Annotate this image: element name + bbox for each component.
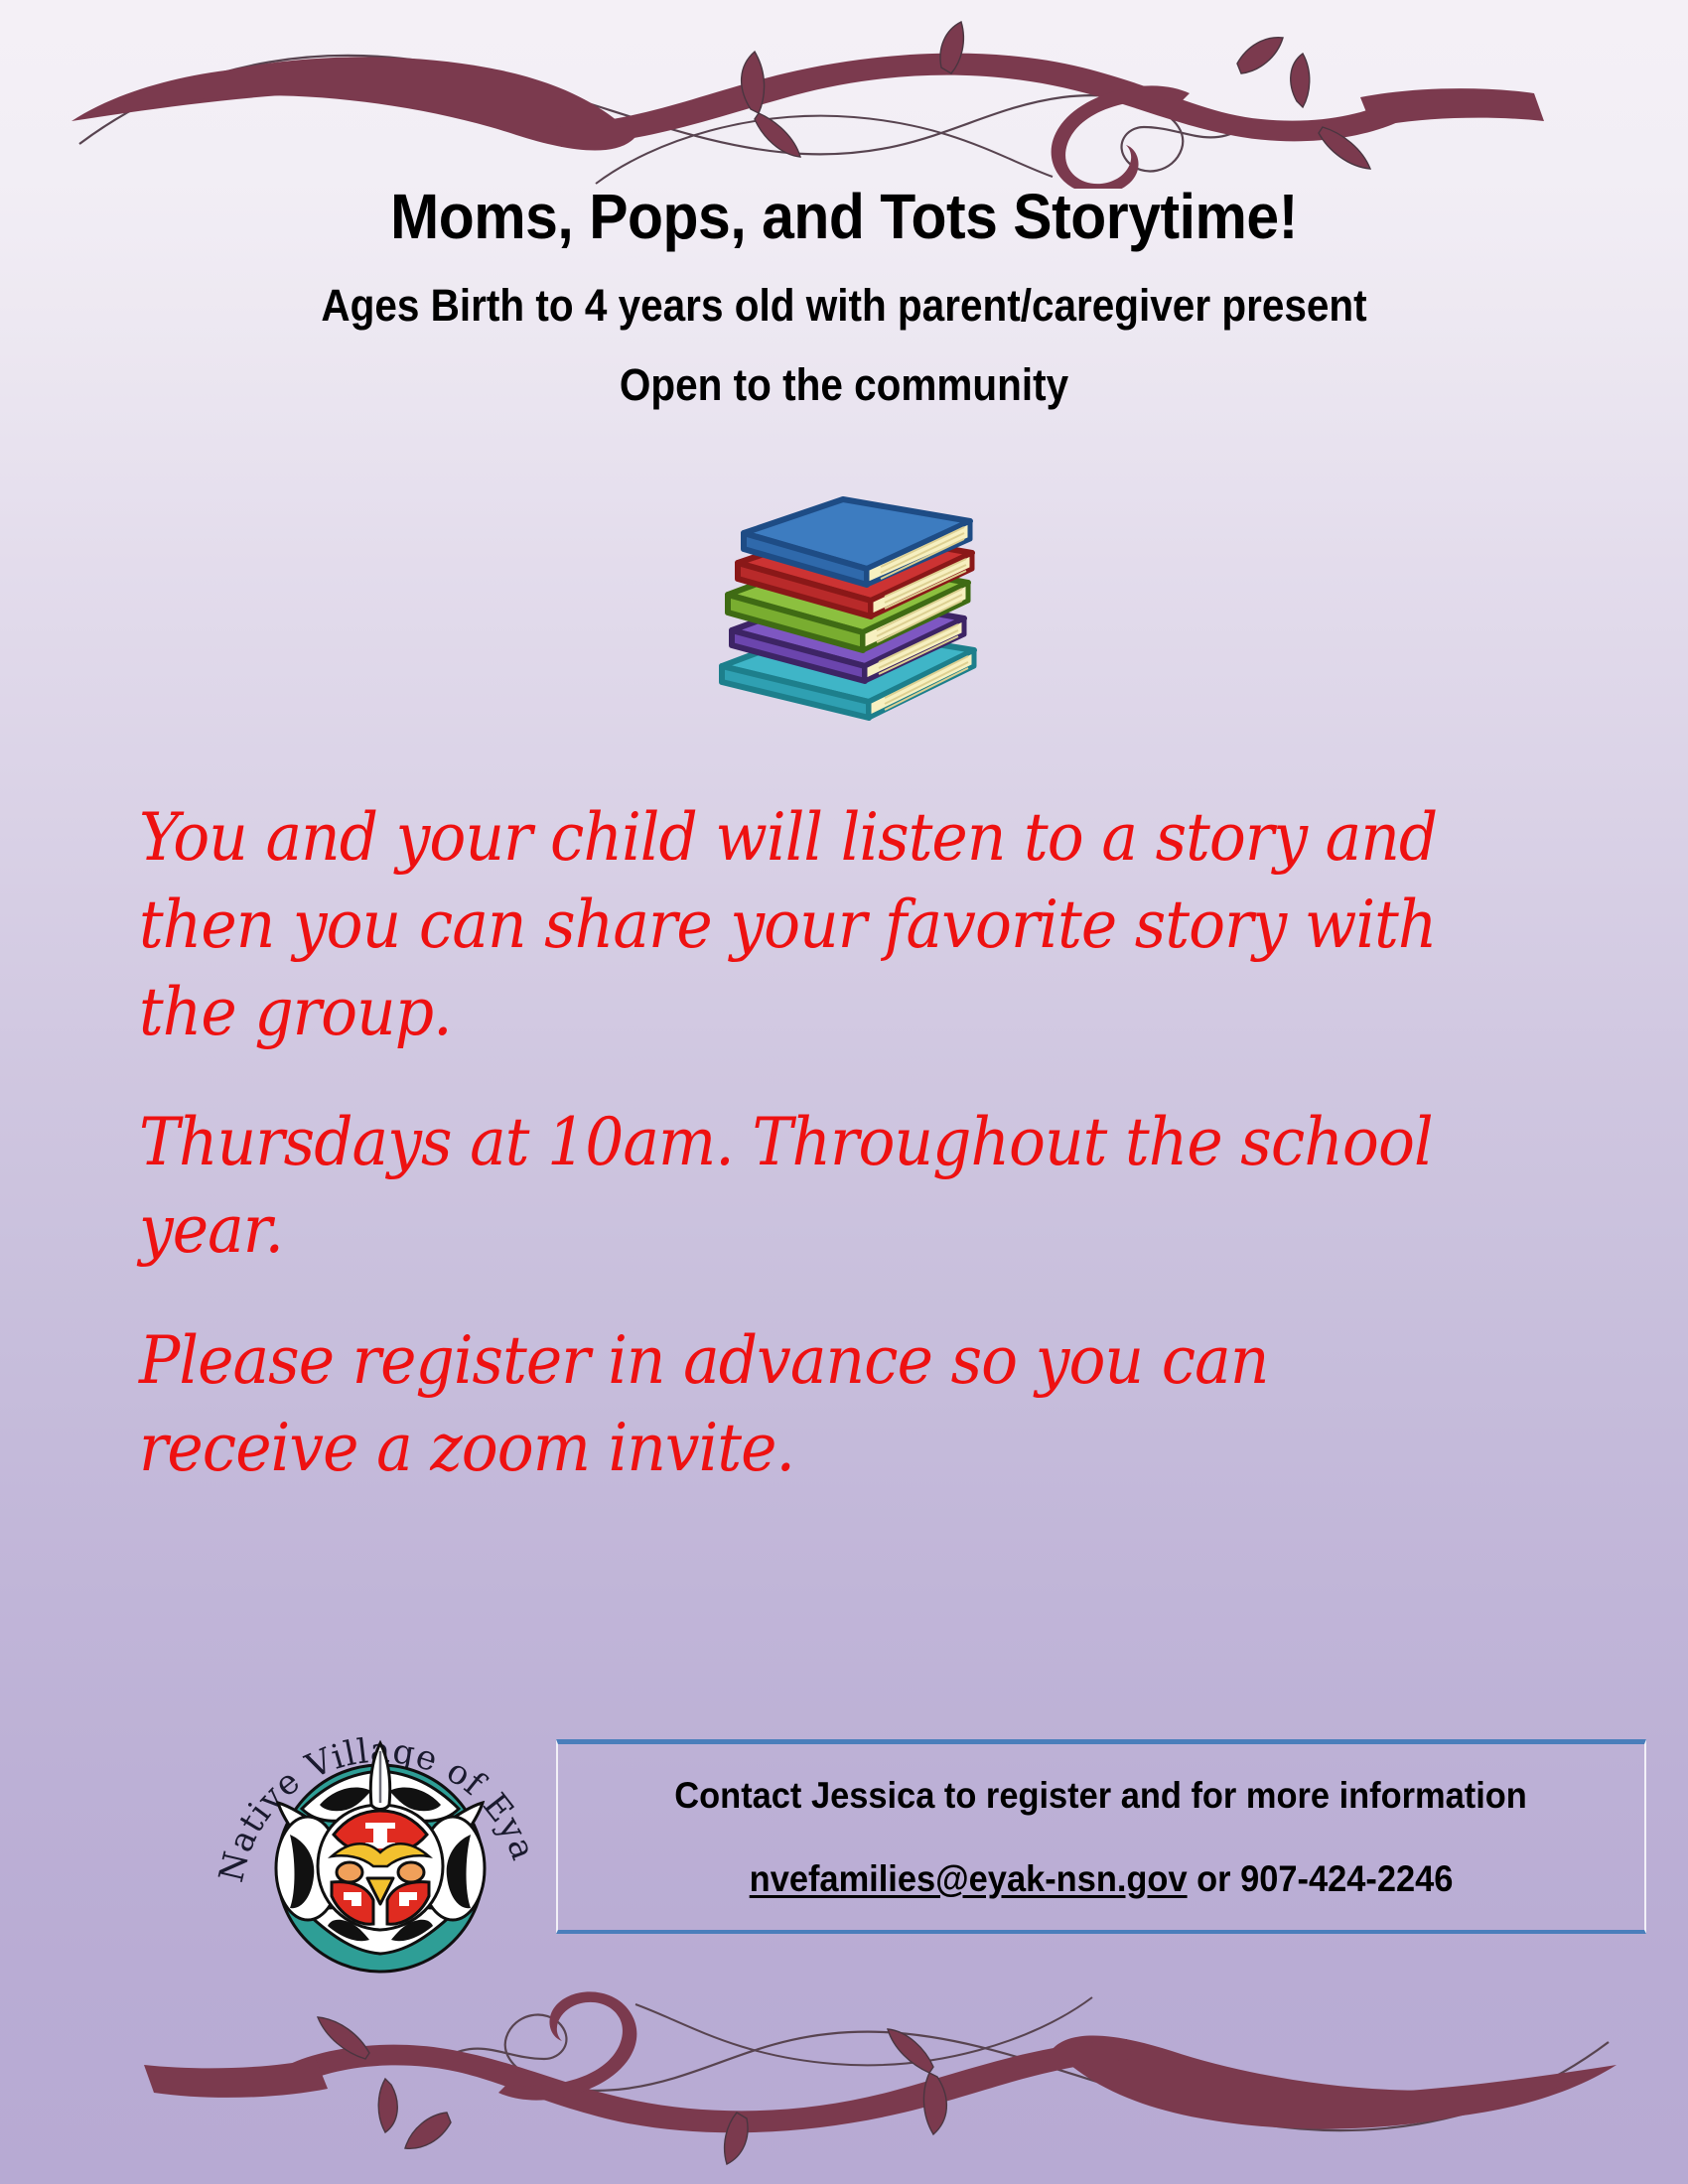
flyer-page: Moms, Pops, and Tots Storytime! Ages Bir… xyxy=(0,0,1688,2184)
top-floral-swirl-icon xyxy=(0,10,1688,189)
page-title: Moms, Pops, and Tots Storytime! xyxy=(68,184,1620,250)
paragraph-register: Please register in advance so you can re… xyxy=(139,1317,1505,1492)
body-copy-block: You and your child will listen to a stor… xyxy=(139,794,1609,1535)
contact-phone[interactable]: 907-424-2246 xyxy=(1240,1858,1453,1899)
contact-separator: or xyxy=(1188,1858,1241,1899)
headings-block: Moms, Pops, and Tots Storytime! Ages Bir… xyxy=(0,184,1688,411)
contact-info-box: Contact Jessica to register and for more… xyxy=(556,1739,1646,1934)
subtitle-open-to-community: Open to the community xyxy=(84,359,1604,411)
book-stack-illustration xyxy=(0,491,1688,725)
paragraph-schedule: Thursdays at 10am. Throughout the school… xyxy=(139,1099,1505,1274)
contact-details-line: nvefamilies@eyak-nsn.gov or 907-424-2246 xyxy=(750,1858,1454,1900)
bottom-floral-swirl-icon xyxy=(0,1987,1688,2176)
contact-heading: Contact Jessica to register and for more… xyxy=(675,1775,1528,1817)
paragraph-story: You and your child will listen to a stor… xyxy=(139,794,1505,1055)
contact-email-link[interactable]: nvefamilies@eyak-nsn.gov xyxy=(750,1858,1188,1899)
native-village-of-eyak-logo: Native Village of Eyak xyxy=(216,1678,544,1985)
subtitle-ages: Ages Birth to 4 years old with parent/ca… xyxy=(84,280,1604,332)
native-village-of-eyak-seal-icon: Native Village of Eyak xyxy=(216,1678,544,1985)
book-stack-icon xyxy=(680,491,1008,725)
